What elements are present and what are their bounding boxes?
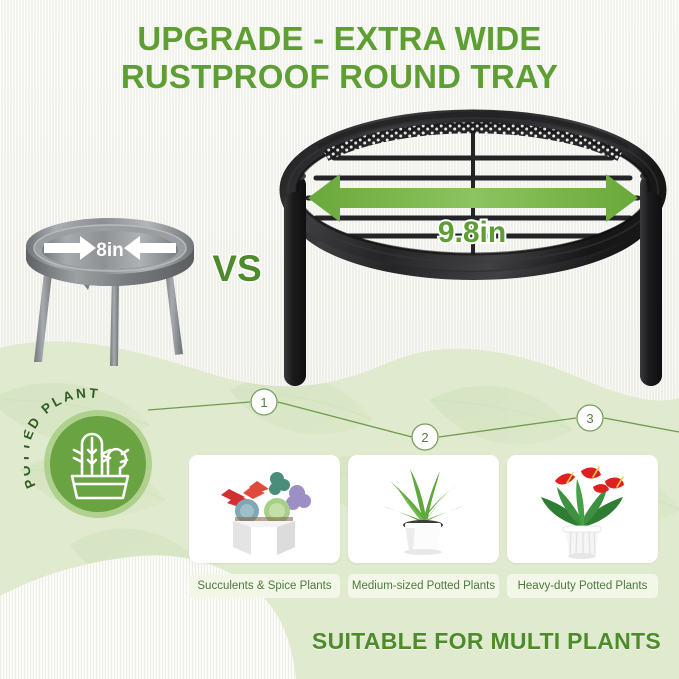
succulent-cluster: [221, 472, 311, 525]
plant-card-image-1: [189, 455, 340, 563]
step-number-3: 3: [586, 411, 593, 426]
anthurium-flowers: [555, 468, 624, 493]
infographic-canvas: UPGRADE - EXTRA WIDE RUSTPROOF ROUND TRA…: [0, 0, 679, 679]
anthurium-in-white-ribbed-pot: [507, 455, 658, 563]
old-product-small-tray: 8in: [18, 186, 203, 371]
new-dimension-label: 9.8in: [392, 216, 552, 250]
plant-card-3[interactable]: Heavy-duty Potted Plants: [507, 455, 658, 615]
step-number-1: 1: [260, 395, 267, 410]
title-line-1: UPGRADE - EXTRA WIDE: [137, 20, 541, 57]
plant-card-image-2: [348, 455, 499, 563]
footer-tagline: SUITABLE FOR MULTI PLANTS: [312, 628, 661, 655]
step-number-2: 2: [421, 430, 428, 445]
plant-card-label-2: Medium-sized Potted Plants: [348, 574, 499, 598]
white-hex-pot: [233, 521, 295, 555]
aloe-leaves: [380, 469, 466, 523]
aloe-in-white-round-pot: [348, 455, 499, 563]
step-markers: 1 2 3: [251, 389, 603, 450]
plant-card-image-3: [507, 455, 658, 563]
vs-label: VS: [206, 248, 268, 290]
plant-card-label-1: Succulents & Spice Plants: [189, 574, 340, 598]
succulents-in-white-hex-pot: [189, 455, 340, 563]
page-title: UPGRADE - EXTRA WIDE RUSTPROOF ROUND TRA…: [0, 20, 679, 97]
white-ribbed-pot: [563, 526, 601, 559]
plant-card-list: Succulents & Spice Plants: [189, 455, 659, 615]
plant-card-label-3: Heavy-duty Potted Plants: [507, 574, 658, 598]
old-dimension-label: 8in: [96, 240, 123, 261]
plant-card-1[interactable]: Succulents & Spice Plants: [189, 455, 340, 615]
plant-card-2[interactable]: Medium-sized Potted Plants: [348, 455, 499, 615]
white-round-pot: [404, 523, 442, 555]
title-line-2: RUSTPROOF ROUND TRAY: [0, 58, 679, 96]
